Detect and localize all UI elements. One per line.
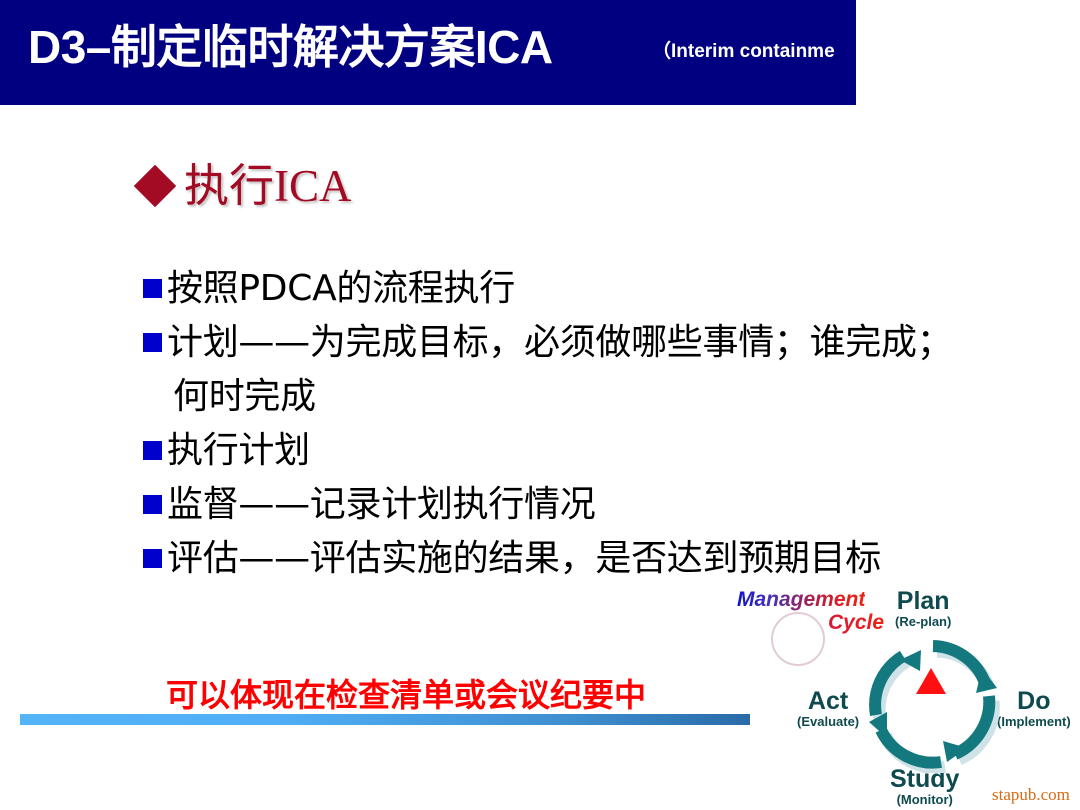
- pdca-label-act-sub: (Evaluate): [797, 714, 859, 730]
- pdca-arrows-graphic: [863, 638, 1003, 773]
- list-item: 监督——记录计划执行情况: [143, 478, 973, 532]
- list-item: 执行计划: [143, 424, 973, 478]
- pdca-label-do-main: Do: [997, 688, 1071, 714]
- list-item-label: 按照PDCA的流程执行: [167, 268, 515, 309]
- list-item: 按照PDCA的流程执行: [143, 262, 973, 316]
- diamond-bullet-icon: [134, 165, 176, 207]
- slide-title-main: D3–制定临时解决方案ICA: [28, 20, 553, 74]
- slide-title-subtitle: （Interim containme: [652, 40, 835, 64]
- section-heading: 执行ICA: [140, 160, 352, 212]
- pdca-label-do: Do (Implement): [997, 688, 1071, 730]
- pdca-cycle-diagram: Management Cycle Plan (Re-plan) Do (Impl…: [735, 588, 1080, 810]
- pdca-label-plan: Plan (Re-plan): [895, 588, 951, 630]
- list-item-label: 评估——评估实施的结果，是否达到预期目标: [167, 538, 881, 579]
- pdca-label-plan-main: Plan: [895, 588, 951, 614]
- list-item: 评估——评估实施的结果，是否达到预期目标: [143, 532, 973, 586]
- bottom-gradient-rule: [20, 714, 750, 725]
- slide-title-bar: D3–制定临时解决方案ICA （Interim containme: [0, 0, 856, 105]
- square-bullet-icon: [143, 333, 162, 352]
- red-triangle-icon: [916, 668, 946, 694]
- bullet-list: 按照PDCA的流程执行 计划——为完成目标，必须做哪些事情；谁完成；何时完成 执…: [143, 262, 973, 586]
- square-bullet-icon: [143, 549, 162, 568]
- ghost-circle-icon: [771, 612, 825, 666]
- square-bullet-icon: [143, 441, 162, 460]
- square-bullet-icon: [143, 495, 162, 514]
- list-item: 计划——为完成目标，必须做哪些事情；谁完成；何时完成: [143, 316, 973, 424]
- pdca-label-act: Act (Evaluate): [797, 688, 859, 730]
- list-item-label: 监督——记录计划执行情况: [167, 484, 595, 525]
- pdca-management-label: Management: [737, 588, 865, 612]
- pdca-label-act-main: Act: [797, 688, 859, 714]
- pdca-label-study-sub: (Monitor): [890, 792, 959, 808]
- list-item-label: 计划——为完成目标，必须做哪些事情；谁完成；何时完成: [167, 322, 952, 417]
- list-item-label: 执行计划: [167, 430, 310, 471]
- section-heading-label: 执行ICA: [184, 160, 352, 212]
- pdca-label-do-sub: (Implement): [997, 714, 1071, 730]
- pdca-arrow-arcs: [875, 646, 989, 763]
- square-bullet-icon: [143, 279, 162, 298]
- watermark: stapub.com: [992, 785, 1070, 805]
- pdca-label-plan-sub: (Re-plan): [895, 614, 951, 630]
- pdca-cycle-label: Cycle: [828, 611, 884, 635]
- red-emphasis-note: 可以体现在检查清单或会议纪要中: [166, 670, 646, 716]
